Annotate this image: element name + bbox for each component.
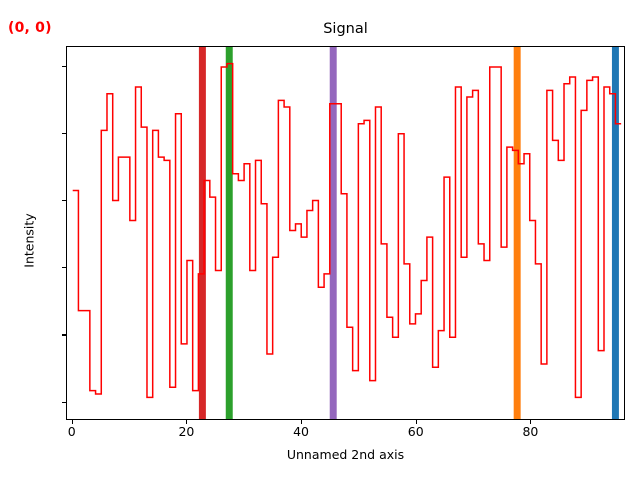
x-tick-mark (301, 420, 302, 424)
y-tick-mark (62, 334, 66, 335)
x-tick-mark (72, 420, 73, 424)
x-axis-label: Unnamed 2nd axis (66, 447, 625, 462)
x-tick-label: 60 (408, 424, 424, 439)
matplotlib-figure[interactable]: (0, 0) Signal 0.00.20.40.60.81.002040608… (0, 0, 640, 480)
plot-axes-area[interactable] (66, 46, 625, 420)
chart-title: Signal (66, 21, 625, 37)
signal-series-layer (73, 64, 621, 398)
cursor-coordinate-readout: (0, 0) (8, 20, 52, 36)
x-tick-mark (416, 420, 417, 424)
y-tick-mark (62, 133, 66, 134)
marker-green (226, 47, 233, 419)
x-tick-mark (186, 420, 187, 424)
x-tick-mark (530, 420, 531, 424)
x-tick-label: 80 (522, 424, 538, 439)
x-tick-label: 0 (68, 424, 76, 439)
signal-plot-svg (67, 47, 624, 419)
y-tick-mark (62, 200, 66, 201)
marker-purple (330, 47, 337, 419)
marker-orange (514, 47, 521, 419)
x-tick-label: 20 (178, 424, 194, 439)
y-tick-mark (62, 66, 66, 67)
y-tick-mark (62, 267, 66, 268)
y-axis-label: Intensity (22, 151, 37, 331)
y-tick-mark (62, 402, 66, 403)
vertical-marker-layer (199, 47, 619, 419)
x-tick-label: 40 (293, 424, 309, 439)
signal-line-0 (73, 64, 621, 398)
